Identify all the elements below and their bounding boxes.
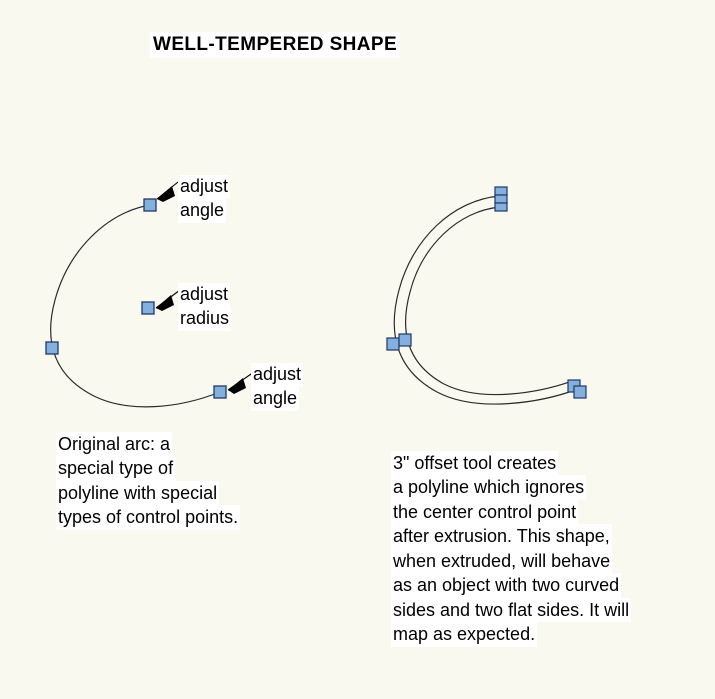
annotation-adjust-radius: adjust radius bbox=[178, 283, 231, 331]
caption-line: 3" offset tool creates bbox=[391, 451, 558, 475]
annotation-line: angle bbox=[251, 387, 299, 411]
caption-line: types of control points. bbox=[56, 505, 240, 529]
annotation-line: radius bbox=[178, 307, 231, 331]
annotation-line: adjust bbox=[178, 283, 230, 307]
leader-adjust-angle-top bbox=[157, 182, 178, 202]
offset-arc-inner-path bbox=[406, 207, 575, 395]
caption-line: as an object with two curved bbox=[391, 573, 621, 597]
control-point-left-midpoint[interactable] bbox=[46, 342, 58, 354]
offset-arc-outer-path bbox=[394, 196, 578, 404]
annotation-line: adjust bbox=[178, 175, 230, 199]
control-point-cluster-left[interactable] bbox=[387, 334, 411, 350]
control-point-center-radius[interactable] bbox=[142, 302, 154, 314]
right-diagram-offset-polyline bbox=[387, 187, 586, 404]
caption-line: polyline with special bbox=[56, 481, 219, 505]
control-point-bottom-endpoint[interactable] bbox=[214, 386, 226, 398]
caption-right-offset-tool: 3" offset tool creates a polyline which … bbox=[391, 451, 631, 647]
caption-line: Original arc: a bbox=[56, 432, 172, 456]
annotation-adjust-angle-bottom: adjust angle bbox=[251, 363, 303, 411]
caption-left-original-arc: Original arc: a special type of polyline… bbox=[56, 432, 240, 530]
caption-line: a polyline which ignores bbox=[391, 475, 586, 499]
annotation-line: adjust bbox=[251, 363, 303, 387]
caption-line: after extrusion. This shape, bbox=[391, 524, 612, 548]
caption-line: special type of bbox=[56, 456, 175, 480]
caption-line: map as expected. bbox=[391, 622, 537, 646]
control-point-cluster-top[interactable] bbox=[495, 187, 507, 211]
leader-adjust-radius bbox=[156, 290, 180, 311]
caption-line: when extruded, will behave bbox=[391, 549, 612, 573]
page-title: WELL-TEMPERED SHAPE bbox=[150, 32, 400, 58]
control-point-top-endpoint[interactable] bbox=[144, 199, 156, 211]
annotation-line: angle bbox=[178, 199, 226, 223]
control-point-cluster-bottom[interactable] bbox=[568, 380, 586, 398]
caption-line: sides and two flat sides. It will bbox=[391, 598, 631, 622]
annotation-adjust-angle-top: adjust angle bbox=[178, 175, 230, 223]
caption-line: the center control point bbox=[391, 500, 578, 524]
